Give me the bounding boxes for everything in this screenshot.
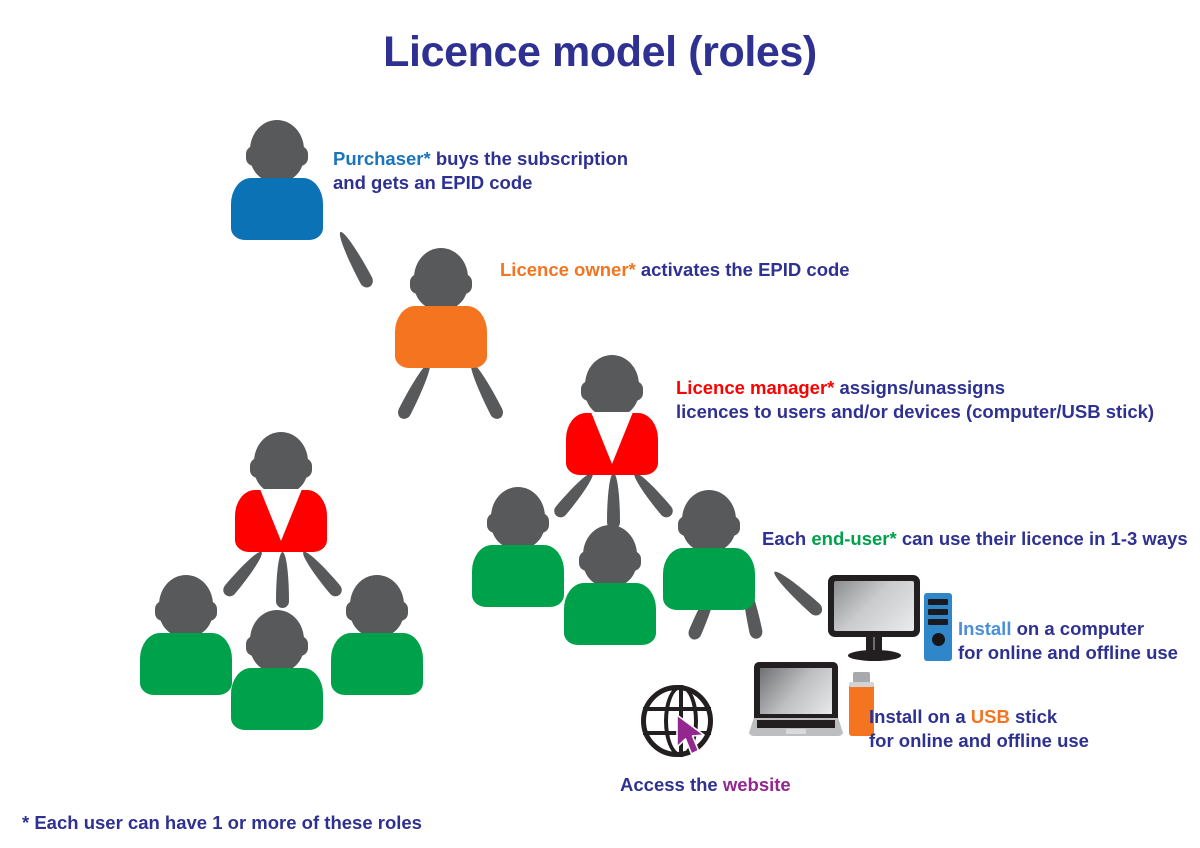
page-title: Licence model (roles) bbox=[0, 28, 1200, 77]
caption-access-website-highlight: website bbox=[723, 774, 791, 795]
torso-end-user bbox=[231, 668, 323, 730]
tower-drive-slot bbox=[928, 609, 948, 615]
torso-end-user bbox=[331, 633, 423, 695]
desktop-computer-icon[interactable] bbox=[828, 575, 954, 663]
monitor-screen bbox=[834, 581, 914, 631]
person-licence-manager-right[interactable] bbox=[566, 355, 658, 475]
caption-licence-manager: Licence manager* assigns/unassigns licen… bbox=[676, 376, 1154, 424]
head-icon bbox=[585, 355, 639, 417]
tower-drive-slot bbox=[928, 619, 948, 625]
head-icon bbox=[583, 525, 637, 587]
person-end-user[interactable] bbox=[564, 525, 656, 645]
caption-install-computer-rest: on a computer bbox=[1011, 618, 1144, 639]
caption-licence-manager-rest: assigns/unassigns bbox=[834, 377, 1005, 398]
caption-end-user-line1: Each end-user* can use their licence in … bbox=[762, 527, 1188, 551]
caption-install-computer: Install on a computer for online and off… bbox=[958, 617, 1178, 665]
caption-licence-owner-rest: activates the EPID code bbox=[636, 259, 850, 280]
person-licence-owner[interactable] bbox=[395, 248, 487, 368]
person-end-user[interactable] bbox=[331, 575, 423, 695]
laptop-trackpad bbox=[786, 729, 806, 734]
caption-install-computer-line1: Install on a computer bbox=[958, 617, 1178, 641]
person-licence-manager-left[interactable] bbox=[235, 432, 327, 552]
caption-purchaser-role: Purchaser* bbox=[333, 148, 431, 169]
torso-licence-owner bbox=[395, 306, 487, 368]
torso-end-user bbox=[564, 583, 656, 645]
caption-licence-manager-line1: Licence manager* assigns/unassigns bbox=[676, 376, 1154, 400]
laptop-keyboard bbox=[757, 720, 835, 728]
person-end-user[interactable] bbox=[472, 487, 564, 607]
caption-install-usb-line2: for online and offline use bbox=[869, 729, 1089, 753]
caption-purchaser-rest: buys the subscription bbox=[431, 148, 628, 169]
head-icon bbox=[254, 432, 308, 494]
caption-end-user-rest: can use their licence in 1-3 ways bbox=[897, 528, 1188, 549]
computer-tower-icon bbox=[924, 593, 952, 661]
head-icon bbox=[682, 490, 736, 552]
person-end-user[interactable] bbox=[663, 490, 755, 610]
head-icon bbox=[250, 610, 304, 672]
caption-install-computer-line2: for online and offline use bbox=[958, 641, 1178, 665]
torso-licence-manager bbox=[235, 490, 327, 552]
footnote: * Each user can have 1 or more of these … bbox=[22, 812, 422, 834]
head-icon bbox=[414, 248, 468, 310]
torso-end-user bbox=[140, 633, 232, 695]
tower-drive-slot bbox=[928, 599, 948, 605]
person-purchaser[interactable] bbox=[231, 120, 323, 240]
caption-install-usb-prefix: Install on a bbox=[869, 706, 971, 727]
torso-purchaser bbox=[231, 178, 323, 240]
caption-access-website-prefix: Access the bbox=[620, 774, 723, 795]
caption-install-usb: Install on a USB stick for online and of… bbox=[869, 705, 1089, 753]
person-end-user[interactable] bbox=[140, 575, 232, 695]
caption-install-computer-highlight: Install bbox=[958, 618, 1011, 639]
head-icon bbox=[250, 120, 304, 182]
caption-end-user-prefix: Each bbox=[762, 528, 811, 549]
torso-licence-manager bbox=[566, 413, 658, 475]
connector-manager-right-to-user-2 bbox=[607, 473, 620, 529]
caption-licence-manager-role: Licence manager* bbox=[676, 377, 834, 398]
caption-purchaser-line2: and gets an EPID code bbox=[333, 171, 628, 195]
person-end-user[interactable] bbox=[231, 610, 323, 730]
torso-end-user bbox=[663, 548, 755, 610]
connector-manager-left-to-user-2 bbox=[276, 552, 289, 608]
mouse-cursor-icon bbox=[675, 713, 709, 757]
caption-install-usb-rest: stick bbox=[1010, 706, 1057, 727]
connector-purchaser-to-owner bbox=[335, 229, 376, 290]
monitor-stand-base bbox=[848, 650, 901, 661]
caption-licence-owner: Licence owner* activates the EPID code bbox=[500, 258, 850, 282]
caption-access-website-line1: Access the website bbox=[620, 773, 791, 797]
connector-user-to-computer bbox=[770, 567, 825, 618]
tower-power-knob bbox=[932, 633, 945, 646]
usb-collar bbox=[849, 682, 874, 687]
caption-licence-owner-role: Licence owner* bbox=[500, 259, 636, 280]
connector-owner-to-manager-left bbox=[396, 360, 436, 421]
caption-access-website: Access the website bbox=[620, 773, 791, 797]
caption-end-user: Each end-user* can use their licence in … bbox=[762, 527, 1188, 551]
caption-licence-owner-line1: Licence owner* activates the EPID code bbox=[500, 258, 850, 282]
diagram-canvas: Licence model (roles) bbox=[0, 0, 1200, 848]
caption-install-usb-line1: Install on a USB stick bbox=[869, 705, 1089, 729]
laptop-screen bbox=[760, 668, 832, 714]
caption-purchaser-line1: Purchaser* buys the subscription bbox=[333, 147, 628, 171]
globe-icon[interactable] bbox=[641, 685, 721, 763]
caption-end-user-role: end-user* bbox=[811, 528, 896, 549]
caption-purchaser: Purchaser* buys the subscription and get… bbox=[333, 147, 628, 195]
caption-licence-manager-line2: licences to users and/or devices (comput… bbox=[676, 400, 1154, 424]
head-icon bbox=[350, 575, 404, 637]
caption-install-usb-highlight: USB bbox=[971, 706, 1010, 727]
laptop-and-usb-icon[interactable] bbox=[748, 662, 878, 740]
head-icon bbox=[159, 575, 213, 637]
torso-end-user bbox=[472, 545, 564, 607]
connector-owner-to-manager-right bbox=[466, 360, 506, 421]
head-icon bbox=[491, 487, 545, 549]
